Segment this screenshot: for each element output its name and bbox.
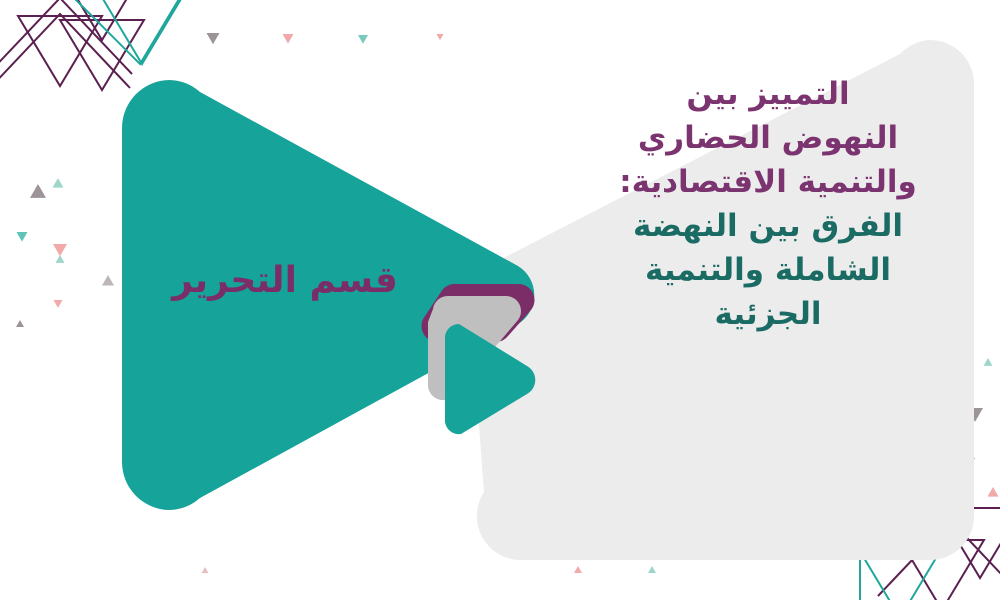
title-line-5: الشاملة والتنمية xyxy=(558,248,978,292)
title-line-2: النهوض الحضاري xyxy=(558,116,978,160)
slide-canvas: قسم التحرير التمييز بين النهوض الحضاري و… xyxy=(0,0,1000,600)
title-line-3: والتنمية الاقتصادية: xyxy=(558,160,978,204)
title-block: التمييز بين النهوض الحضاري والتنمية الاق… xyxy=(558,72,978,336)
left-panel-label: قسم التحرير xyxy=(135,258,435,303)
title-line-6: الجزئية xyxy=(558,292,978,336)
title-line-1: التمييز بين xyxy=(558,72,978,116)
title-line-4: الفرق بين النهضة xyxy=(558,204,978,248)
